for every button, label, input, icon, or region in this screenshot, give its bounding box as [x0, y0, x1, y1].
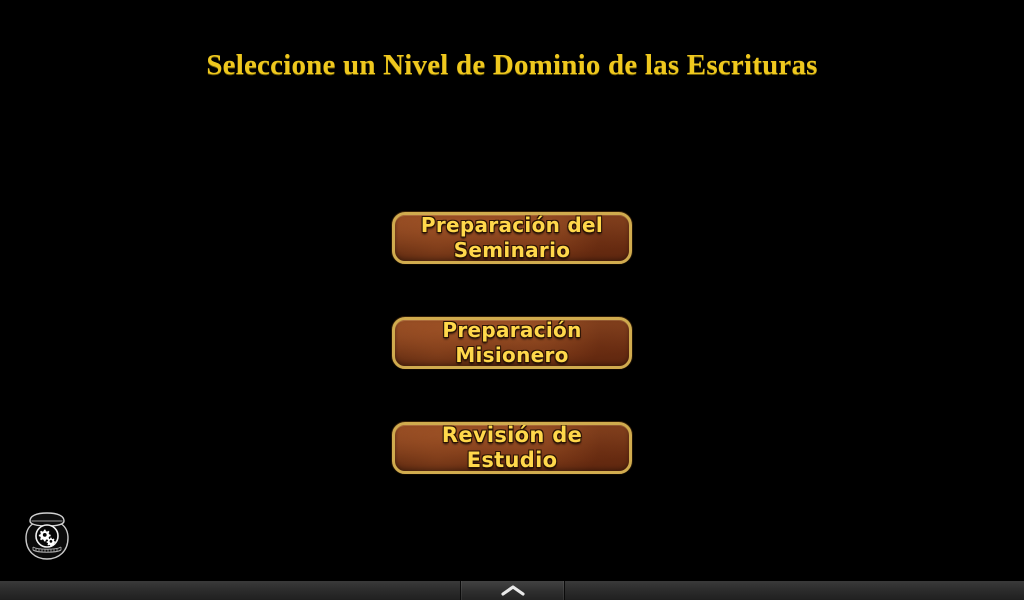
game-screen: Seleccione un Nivel de Dominio de las Es…: [0, 0, 1024, 600]
bottom-bar-right-segment: [565, 581, 1024, 600]
menu-button-revision-de-estudio[interactable]: Revisión de Estudio: [392, 422, 632, 474]
bottom-bar-expand-button[interactable]: [460, 581, 565, 600]
level-menu: Preparación del Seminario Preparación Mi…: [392, 212, 632, 474]
settings-button[interactable]: [18, 508, 76, 566]
menu-button-label: Preparación del Seminario: [395, 215, 629, 261]
pot-gears-icon: [18, 508, 76, 566]
menu-button-preparacion-misionero[interactable]: Preparación Misionero: [392, 317, 632, 369]
menu-button-label: Revisión de Estudio: [395, 425, 629, 471]
bottom-system-bar: [0, 581, 1024, 600]
page-title: Seleccione un Nivel de Dominio de las Es…: [0, 48, 1024, 82]
chevron-up-icon: [501, 584, 525, 597]
menu-button-label: Preparación Misionero: [395, 320, 629, 366]
menu-button-preparacion-del-seminario[interactable]: Preparación del Seminario: [392, 212, 632, 264]
bottom-bar-left-segment: [0, 581, 460, 600]
